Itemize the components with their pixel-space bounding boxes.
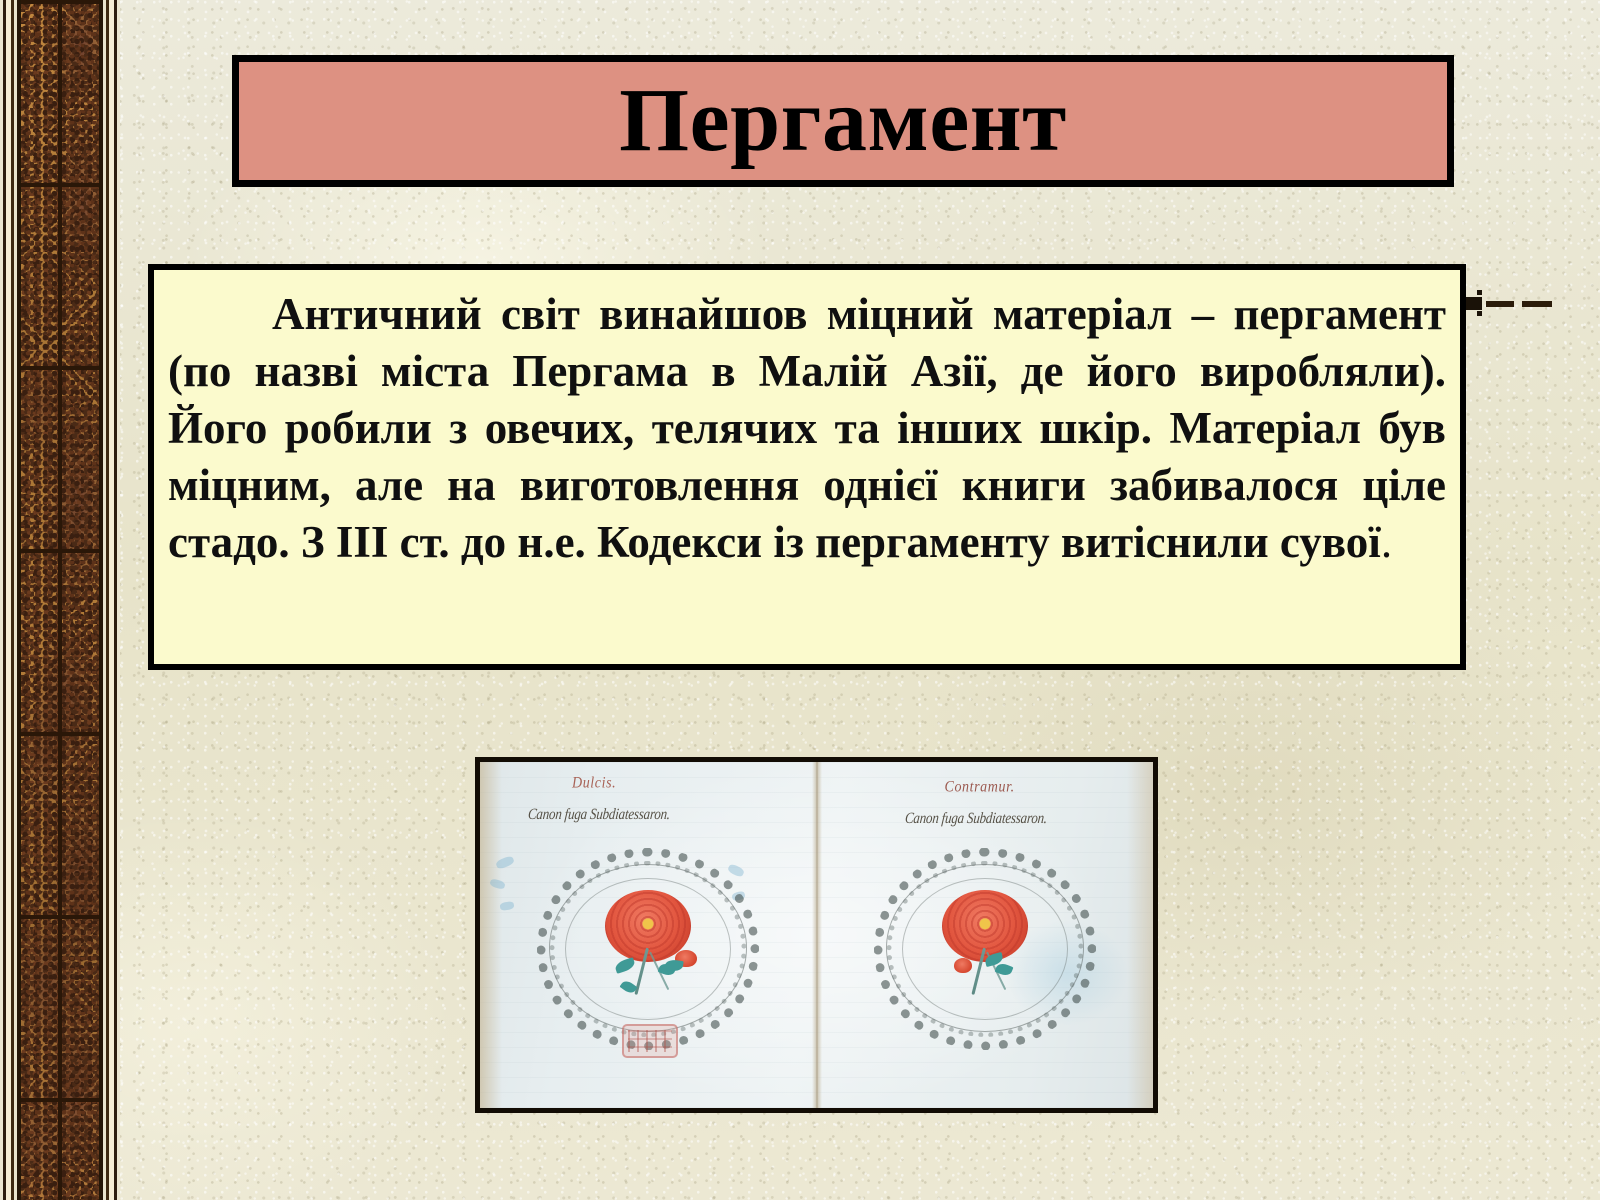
manuscript-left-script-line: Canon fuga Subdiatessaron. <box>527 804 671 823</box>
border-grid-lines <box>21 0 99 1200</box>
textbox-connector-handle[interactable] <box>1466 290 1552 316</box>
connector-dash-far <box>1522 301 1552 307</box>
body-paragraph-main: Античний світ винайшов міцний матеріал –… <box>168 289 1446 567</box>
body-paragraph-tail: . <box>1381 517 1392 567</box>
library-stamp-marks <box>628 1030 672 1052</box>
manuscript-right-page: Contramur. Canon fuga Subdiatessaron. <box>817 762 1154 1108</box>
page-title: Пергамент <box>619 76 1067 166</box>
library-stamp <box>622 1024 678 1058</box>
manuscript-right-script-line: Canon fuga Subdiatessaron. <box>904 808 1048 827</box>
rose-bud <box>954 958 972 973</box>
manuscript-left-rubric: Dulcis. <box>572 775 616 793</box>
manuscript-book-gutter <box>812 762 822 1108</box>
slide-title-box: Пергамент <box>232 55 1454 187</box>
connector-dot-bottom <box>1477 311 1482 316</box>
rose-illustration-right <box>942 890 1028 966</box>
slide-body-box: Античний світ винайшов міцний матеріал –… <box>148 264 1466 670</box>
manuscript-right-rubric: Contramur. <box>945 779 1015 797</box>
decorative-left-border <box>0 0 120 1200</box>
connector-handle-block <box>1466 297 1482 310</box>
body-paragraph: Античний світ винайшов міцний матеріал –… <box>168 286 1446 571</box>
connector-dot-top <box>1477 290 1482 295</box>
connector-dash-near <box>1486 301 1514 307</box>
presentation-slide: Пергамент Античний світ винайшов міцний … <box>0 0 1600 1200</box>
manuscript-image: Dulcis. Canon fuga Subdiatessaron. <box>475 757 1158 1113</box>
manuscript-left-page: Dulcis. Canon fuga Subdiatessaron. <box>480 762 817 1108</box>
